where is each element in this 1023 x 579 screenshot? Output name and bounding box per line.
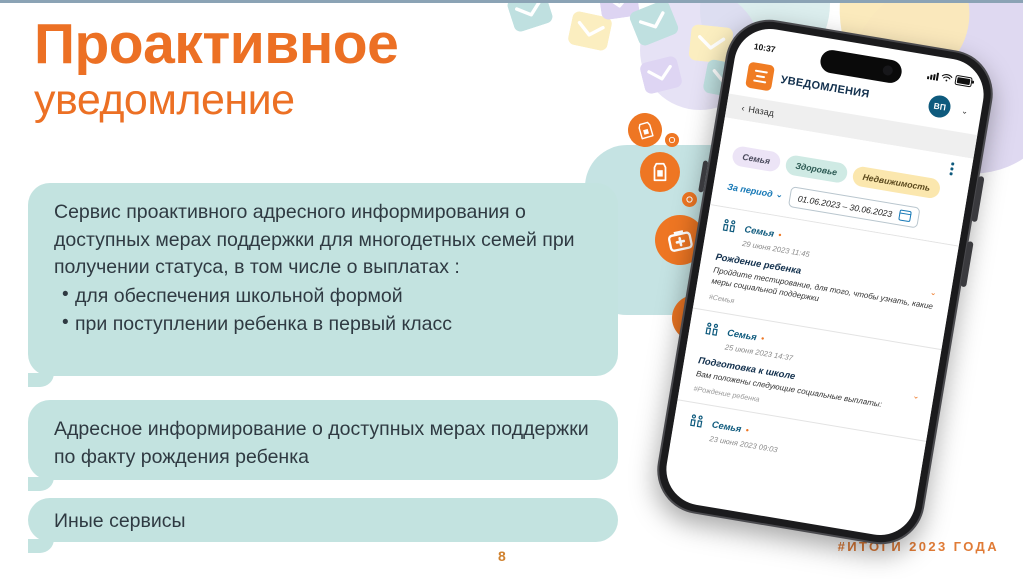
- slide-root: Проактивное уведомление Сервис проактивн…: [0, 0, 1023, 579]
- period-filter-label: За период: [727, 181, 774, 198]
- cellular-signal-icon: [927, 71, 939, 81]
- status-indicators: [927, 70, 973, 87]
- date-range-value: 01.06.2023 – 30.06.2023: [797, 193, 893, 219]
- unread-dot-icon: •: [760, 333, 765, 343]
- info-bubble-secondary: Адресное информирование о доступных мера…: [28, 400, 618, 480]
- chevron-left-icon: ‹: [741, 103, 746, 113]
- notification-meta: Семья • 29 июня 2023 11:45: [742, 219, 814, 259]
- battery-icon: [954, 74, 972, 87]
- badge-dot-icon: [665, 133, 679, 147]
- chevron-down-icon[interactable]: ⌄: [961, 106, 969, 116]
- period-filter-dropdown[interactable]: За период ⌄: [727, 181, 784, 201]
- list-item: при поступлении ребенка в первый класс: [75, 311, 598, 339]
- envelope-icon: [506, 0, 555, 33]
- notification-date: 23 июня 2023 09:03: [709, 434, 778, 454]
- status-time: 10:37: [753, 41, 776, 54]
- list-item: для обеспечения школьной формой: [75, 283, 598, 311]
- bubble-paragraph: Иные сервисы: [54, 508, 598, 536]
- top-accent-bar: [0, 0, 1023, 3]
- info-bubble-tertiary: Иные сервисы: [28, 498, 618, 542]
- info-bubble-primary: Сервис проактивного адресного информиров…: [28, 183, 618, 376]
- chevron-down-icon[interactable]: ⌄: [912, 391, 920, 401]
- notification-meta: Семья • 23 июня 2023 09:03: [709, 415, 782, 455]
- wifi-icon: [941, 72, 953, 83]
- bubble-paragraph: Адресное информирование о доступных мера…: [54, 416, 598, 471]
- notification-category: Семья: [711, 419, 742, 434]
- unread-dot-icon: •: [745, 425, 750, 435]
- back-label: Назад: [748, 104, 775, 118]
- family-icon: [719, 216, 739, 241]
- chevron-down-icon: ⌄: [775, 189, 784, 201]
- bubble-list: для обеспечения школьной формой при пост…: [54, 283, 598, 338]
- app-logo-icon: [745, 61, 775, 91]
- avatar[interactable]: ВП: [927, 94, 952, 119]
- title-line-1: Проактивное: [34, 16, 398, 73]
- family-icon: [702, 319, 722, 344]
- page-title: Проактивное уведомление: [34, 16, 398, 122]
- title-line-2: уведомление: [34, 79, 398, 122]
- notification-category: Семья: [744, 224, 775, 239]
- page-number: 8: [498, 548, 506, 564]
- badge-dot-icon: [682, 192, 697, 207]
- notification-category: Семья: [727, 327, 758, 342]
- family-icon: [686, 412, 706, 437]
- bubble-paragraph: Сервис проактивного адресного информиров…: [54, 199, 598, 282]
- notification-meta: Семья • 25 июня 2023 14:37: [724, 322, 797, 362]
- milk-carton-icon: [640, 152, 680, 192]
- calendar-icon: [898, 209, 912, 222]
- unread-dot-icon: •: [778, 230, 783, 240]
- chevron-down-icon[interactable]: ⌄: [929, 288, 937, 298]
